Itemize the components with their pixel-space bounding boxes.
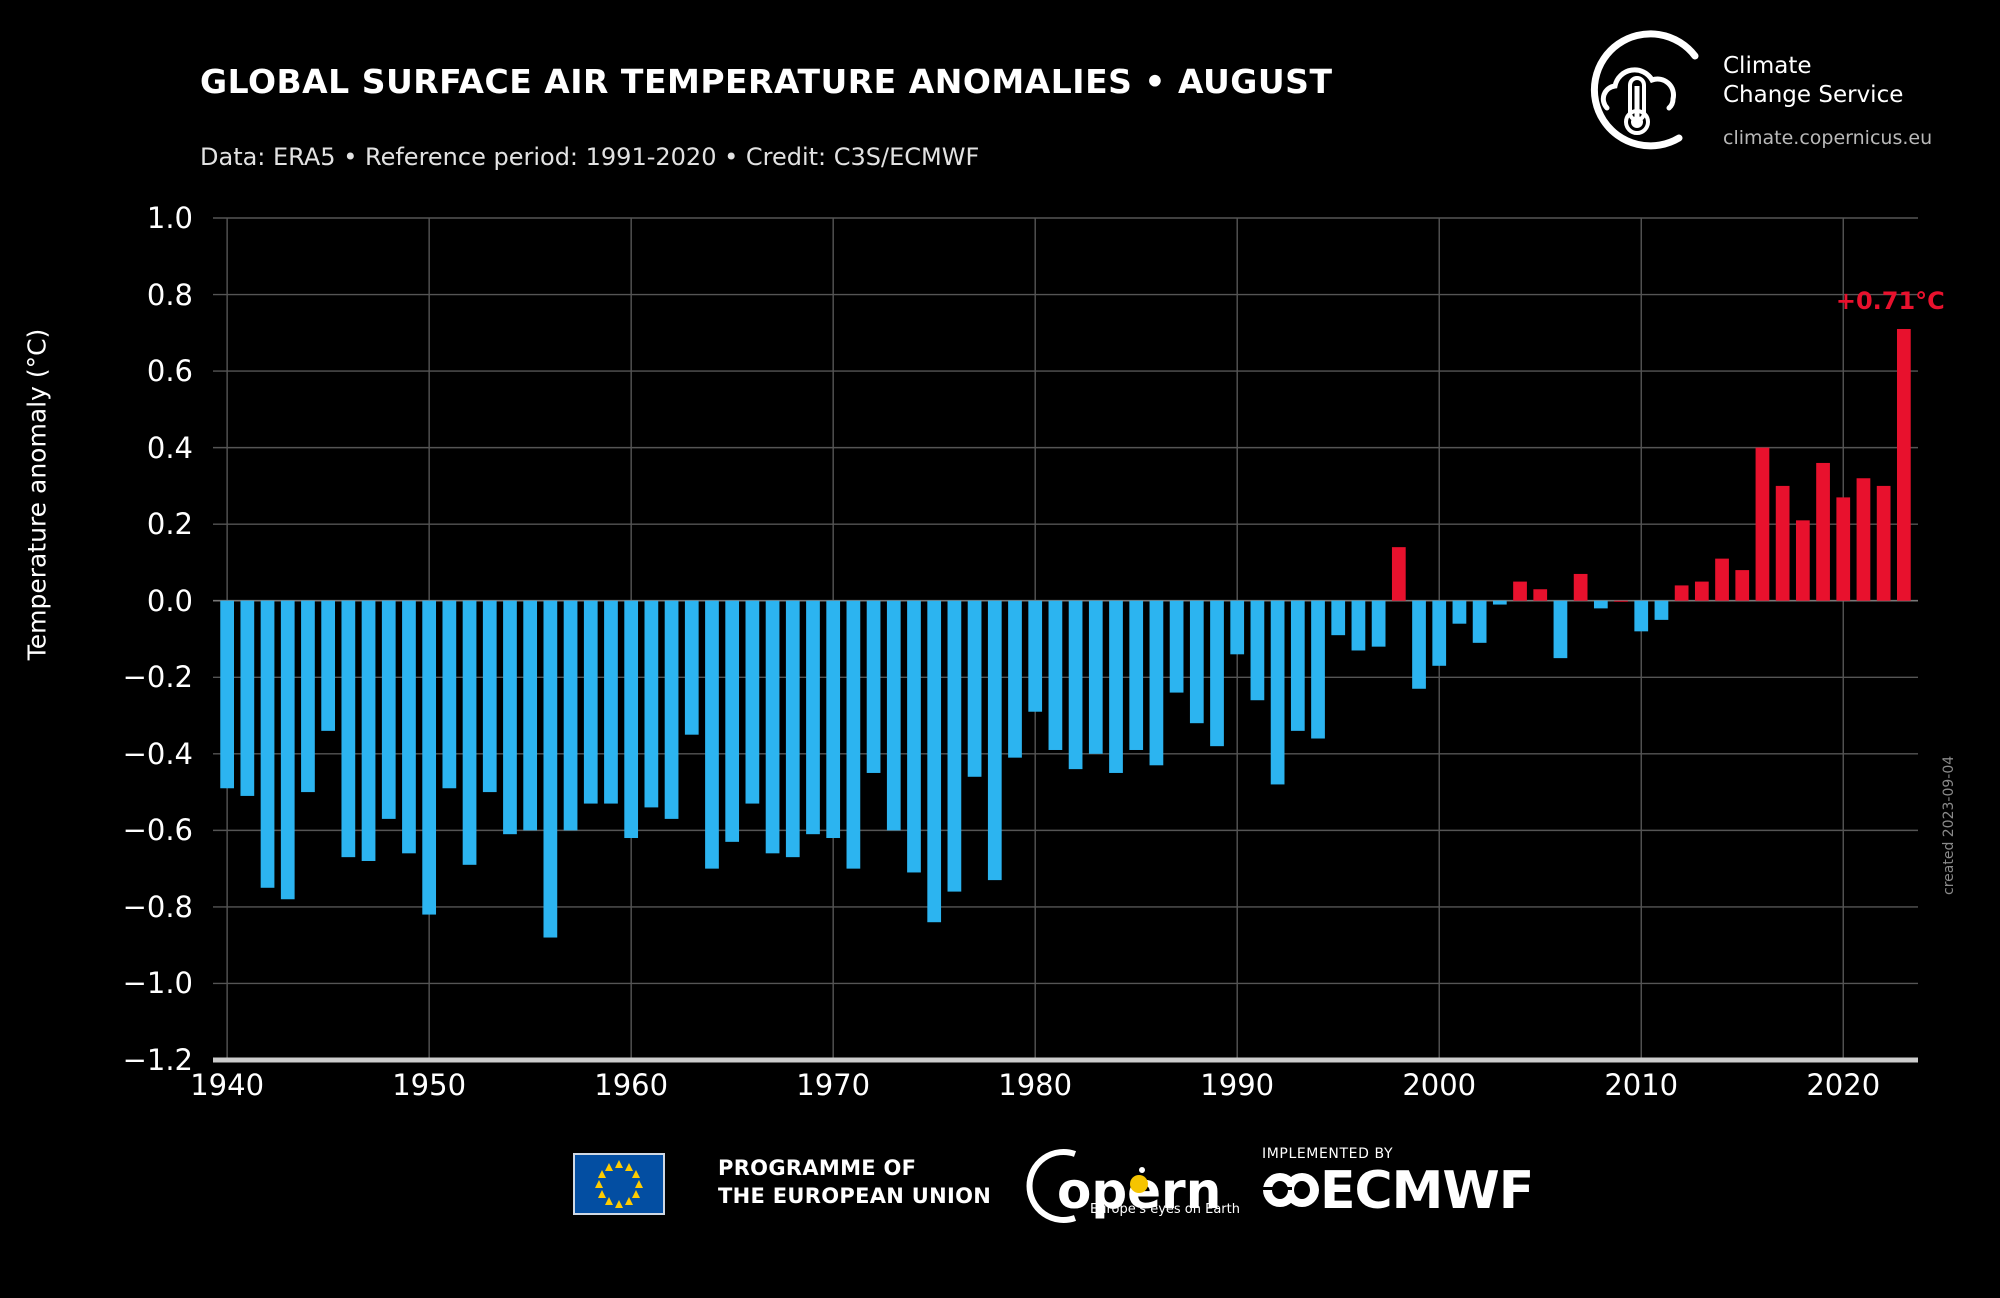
eu-star (595, 1180, 603, 1188)
bar-1972 (867, 601, 881, 773)
bar-1942 (261, 601, 275, 888)
bar-1996 (1352, 601, 1366, 651)
x-tick-1: 1950 (392, 1068, 466, 1102)
ecmwf-name: ECMWF (1320, 1161, 1533, 1221)
bar-1945 (321, 601, 335, 731)
x-tick-5: 1990 (1200, 1068, 1274, 1102)
x-tick-3: 1970 (796, 1068, 870, 1102)
implemented-by-label: IMPLEMENTED BY (1262, 1146, 1393, 1162)
bar-1984 (1109, 601, 1123, 773)
eu-programme-line2: THE EUROPEAN UNION (718, 1182, 991, 1210)
created-date-note: created 2023-09-04 (1941, 756, 1957, 895)
y-tick-0: 1.0 (73, 201, 193, 235)
bar-2006 (1554, 601, 1568, 658)
y-tick-3: 0.4 (73, 431, 193, 465)
bar-2008 (1594, 601, 1608, 609)
eu-programme-text: PROGRAMME OF THE EUROPEAN UNION (718, 1154, 991, 1211)
eu-programme-line1: PROGRAMME OF (718, 1154, 991, 1182)
y-tick-7: −0.4 (73, 737, 193, 771)
bar-1940 (220, 601, 234, 789)
x-tick-2: 1960 (594, 1068, 668, 1102)
x-tick-4: 1980 (998, 1068, 1072, 1102)
bar-1991 (1251, 601, 1265, 701)
bar-1964 (705, 601, 719, 869)
bar-1989 (1210, 601, 1224, 746)
x-tick-0: 1940 (190, 1068, 264, 1102)
eu-star (605, 1163, 613, 1171)
bar-2021 (1857, 478, 1871, 600)
eu-star (615, 1160, 623, 1168)
bar-1948 (382, 601, 396, 819)
eu-star (632, 1170, 640, 1178)
bar-1987 (1170, 601, 1184, 693)
y-tick-4: 0.2 (73, 507, 193, 541)
bar-2016 (1756, 448, 1770, 601)
bar-2000 (1432, 601, 1446, 666)
bar-1956 (543, 601, 557, 938)
bar-1981 (1049, 601, 1063, 750)
bar-1988 (1190, 601, 1204, 723)
bar-2004 (1513, 582, 1527, 601)
chart-area: 1.00.80.60.40.20.0−0.2−0.4−0.6−0.8−1.0−1… (0, 0, 2000, 1294)
bar-1943 (281, 601, 295, 900)
bar-1946 (341, 601, 355, 857)
annotation-latest-value: +0.71°C (1836, 287, 1945, 315)
bar-1976 (948, 601, 962, 892)
bar-2015 (1735, 570, 1749, 601)
bar-1979 (1008, 601, 1022, 758)
bar-1963 (685, 601, 699, 735)
y-tick-1: 0.8 (73, 278, 193, 312)
bar-2022 (1877, 486, 1891, 601)
bar-1971 (847, 601, 861, 869)
bar-1998 (1392, 547, 1406, 601)
bar-1959 (604, 601, 618, 804)
x-tick-6: 2000 (1402, 1068, 1476, 1102)
bar-2009 (1614, 601, 1628, 602)
bar-2002 (1473, 601, 1487, 643)
x-tick-8: 2020 (1806, 1068, 1880, 1102)
y-tick-8: −0.6 (73, 813, 193, 847)
bar-1994 (1311, 601, 1325, 739)
bar-1954 (503, 601, 517, 834)
eu-flag-icon (573, 1153, 665, 1215)
bar-2019 (1816, 463, 1830, 601)
bar-2010 (1634, 601, 1648, 632)
y-tick-11: −1.2 (73, 1043, 193, 1077)
bar-1962 (665, 601, 679, 819)
bar-1992 (1271, 601, 1285, 785)
bar-1969 (806, 601, 820, 834)
bar-1977 (968, 601, 982, 777)
bar-1949 (402, 601, 416, 854)
y-tick-2: 0.6 (73, 354, 193, 388)
bar-2014 (1715, 559, 1729, 601)
bar-2011 (1655, 601, 1669, 620)
bar-1995 (1331, 601, 1345, 635)
y-tick-5: 0.0 (73, 584, 193, 618)
y-tick-10: −1.0 (73, 966, 193, 1000)
bar-1982 (1069, 601, 1083, 769)
bar-1997 (1372, 601, 1386, 647)
bar-2001 (1453, 601, 1467, 624)
bar-1944 (301, 601, 315, 792)
eu-star (598, 1190, 606, 1198)
bar-1980 (1028, 601, 1042, 712)
bar-1986 (1150, 601, 1164, 766)
ecmwf-logo: ECMWF (1262, 1164, 1533, 1217)
eu-star (632, 1190, 640, 1198)
bar-1947 (362, 601, 376, 861)
bar-2013 (1695, 582, 1709, 601)
bar-2018 (1796, 520, 1810, 600)
bar-1958 (584, 601, 598, 804)
eu-star (598, 1170, 606, 1178)
bar-1950 (422, 601, 436, 915)
bar-1990 (1230, 601, 1244, 655)
bar-1985 (1129, 601, 1143, 750)
bar-1968 (786, 601, 800, 857)
bar-1941 (240, 601, 254, 796)
bar-1966 (746, 601, 760, 804)
bar-1965 (725, 601, 739, 842)
bar-2005 (1533, 589, 1547, 600)
eu-star (605, 1197, 613, 1205)
bar-1967 (766, 601, 780, 854)
bar-1957 (564, 601, 578, 831)
y-tick-9: −0.8 (73, 890, 193, 924)
bar-1970 (826, 601, 840, 838)
bar-1955 (523, 601, 537, 831)
y-tick-6: −0.2 (73, 660, 193, 694)
bar-2003 (1493, 601, 1507, 605)
eu-star (625, 1197, 633, 1205)
bar-1983 (1089, 601, 1103, 754)
copernicus-tagline: Europe's eyes on Earth (1090, 1202, 1240, 1217)
bar-2012 (1675, 585, 1689, 600)
bar-1974 (907, 601, 921, 873)
eu-star (615, 1200, 623, 1208)
footer-logos: PROGRAMME OF THE EUROPEAN UNION opernicu… (0, 1138, 2000, 1258)
bar-1952 (463, 601, 477, 865)
bar-1961 (645, 601, 659, 808)
bar-1973 (887, 601, 901, 831)
bar-1960 (624, 601, 638, 838)
bar-1975 (927, 601, 941, 922)
bar-1978 (988, 601, 1002, 880)
bar-2007 (1574, 574, 1588, 601)
bar-1953 (483, 601, 497, 792)
eu-star (635, 1180, 643, 1188)
bar-1951 (442, 601, 456, 789)
bar-2017 (1776, 486, 1790, 601)
bar-1993 (1291, 601, 1305, 731)
bar-2023 (1897, 329, 1911, 601)
x-tick-7: 2010 (1604, 1068, 1678, 1102)
bar-1999 (1412, 601, 1426, 689)
bar-2020 (1836, 497, 1850, 600)
y-axis-title: Temperature anomaly (°C) (23, 275, 52, 715)
